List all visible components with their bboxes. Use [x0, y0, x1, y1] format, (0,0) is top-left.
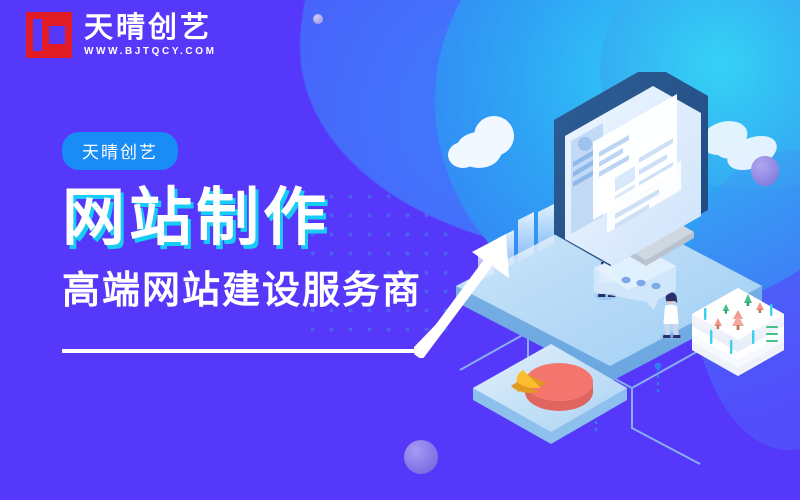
sphere-top — [313, 14, 323, 24]
brand-url: WWW.BJTQCY.COM — [84, 46, 217, 57]
divider-kick — [414, 322, 444, 352]
server-stack — [686, 284, 790, 380]
promo-banner: 天晴创艺 WWW.BJTQCY.COM 天晴创艺 网站制作 高端网站建设服务商 — [0, 0, 800, 500]
sphere-bottom — [404, 440, 438, 474]
badge-label: 天晴创艺 — [62, 132, 178, 170]
headline: 网站制作 — [62, 186, 482, 249]
subheadline: 高端网站建设服务商 — [62, 271, 482, 309]
sphere-right — [751, 156, 779, 186]
logo-mark-icon — [26, 12, 72, 58]
divider-rule — [62, 349, 417, 353]
brand-name: 天晴创艺 — [84, 13, 217, 43]
copy-block: 天晴创艺 网站制作 高端网站建设服务商 — [62, 132, 482, 309]
logo-text-group: 天晴创艺 WWW.BJTQCY.COM — [84, 13, 217, 57]
desktop-monitor — [548, 72, 738, 272]
brand-logo[interactable]: 天晴创艺 WWW.BJTQCY.COM — [26, 12, 217, 58]
